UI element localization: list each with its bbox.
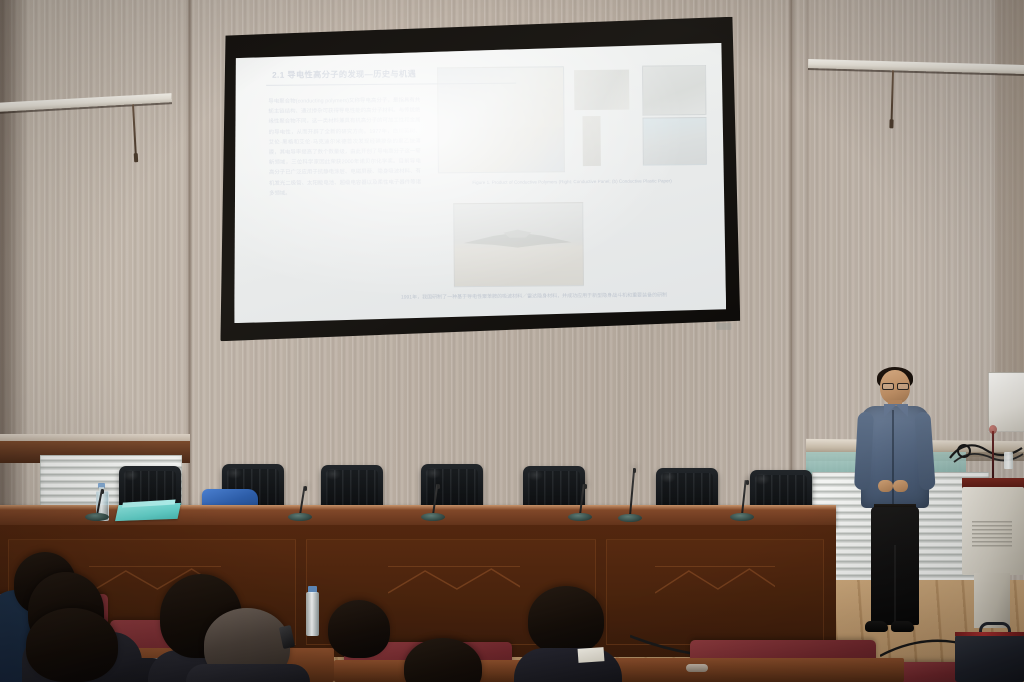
table-microphone[interactable] <box>288 486 312 521</box>
microphone-base <box>421 513 445 521</box>
presentation-slide: 2.1 导电性高分子的发现—历史与机遇 导电聚合物(conducting pol… <box>252 59 706 311</box>
camera-bag[interactable] <box>955 622 1024 682</box>
bottom-caption: 1991年，我国研制了一种基于导电性聚苯胺的吸波材料／雷达隐身材料，并成功应用于… <box>362 291 706 302</box>
presenter-leg-seam <box>894 545 896 625</box>
podium-microphone[interactable] <box>988 425 998 483</box>
seat-number-badge <box>686 664 708 672</box>
teal-documents[interactable] <box>115 503 181 521</box>
glasses-icon <box>882 383 909 388</box>
slide-body-text: 导电聚合物(conducting polymers)又称导电高分子，是指具有共轭… <box>268 96 421 199</box>
microphone-head <box>304 486 307 491</box>
attendee-head-8 <box>328 600 390 658</box>
conductive-component-photo <box>574 70 629 110</box>
projection-screen: 2.1 导电性高分子的发现—历史与机遇 导电聚合物(conducting pol… <box>218 17 741 342</box>
screen-surface: 2.1 导电性高分子的发现—历史与机遇 导电聚合物(conducting pol… <box>232 43 726 323</box>
attendee-body-5 <box>186 664 310 682</box>
microphone-base <box>618 514 642 522</box>
podium-monitor <box>988 372 1024 432</box>
bag-red-trim <box>955 632 1024 636</box>
presenter-hand-left <box>878 480 893 492</box>
conductive-rod-photo <box>582 116 600 166</box>
attendee-head-7 <box>528 586 604 654</box>
microphone-base <box>730 513 754 521</box>
microphone-neck <box>741 480 747 515</box>
microphone-base <box>85 513 109 521</box>
conductive-panel-photo <box>437 66 565 173</box>
lectern-body <box>962 487 1024 575</box>
presenter-hand-right <box>893 480 908 492</box>
table-microphone[interactable] <box>421 484 445 521</box>
microphone-head <box>101 489 104 494</box>
seat-frame <box>604 658 904 682</box>
microphone-head <box>746 480 749 485</box>
table-microphone[interactable] <box>730 480 754 521</box>
attendee-head-3 <box>26 608 118 682</box>
presenter-shoe-left <box>865 621 888 632</box>
table-microphone[interactable] <box>568 484 592 521</box>
bag-body <box>955 632 1024 682</box>
microphone-head <box>633 468 636 473</box>
audience-water-bottle[interactable] <box>306 592 319 636</box>
microphone-head <box>437 484 440 489</box>
podium-microphone-stem <box>992 431 994 483</box>
microphone-neck <box>629 468 635 516</box>
screen-brand-tag <box>716 323 731 330</box>
blind-cord-handle-right[interactable] <box>889 119 893 128</box>
conductive-device-photo <box>642 65 706 116</box>
conductive-plastic-paper-photo <box>642 117 706 166</box>
table-microphone[interactable] <box>85 489 109 521</box>
presenter-shoe-right <box>891 621 914 632</box>
blind-cord-handle-left[interactable] <box>134 153 138 162</box>
microphone-head <box>584 484 587 489</box>
lecture-hall-photo: 2.1 导电性高分子的发现—历史与机遇 导电聚合物(conducting pol… <box>0 0 1024 682</box>
wall-edge-right <box>995 0 1024 390</box>
panel-chevron <box>388 566 520 597</box>
lectern-vent <box>972 521 1012 547</box>
lectern[interactable] <box>962 478 1024 628</box>
figure-caption: Figure 1. Product of Conductive Polymers… <box>439 177 705 186</box>
podium-microphone-head <box>989 425 997 434</box>
podium-water-bottle[interactable] <box>1004 452 1013 469</box>
microphone-base <box>568 513 592 521</box>
stealth-aircraft-silhouette <box>459 228 575 253</box>
panel-chevron <box>655 566 776 597</box>
attendee-body-7 <box>514 648 622 682</box>
lectern-column <box>974 573 1010 628</box>
microphone-base <box>288 513 312 521</box>
presenter <box>851 370 937 642</box>
table-microphone[interactable] <box>618 468 642 522</box>
handout-paper[interactable] <box>578 647 605 663</box>
